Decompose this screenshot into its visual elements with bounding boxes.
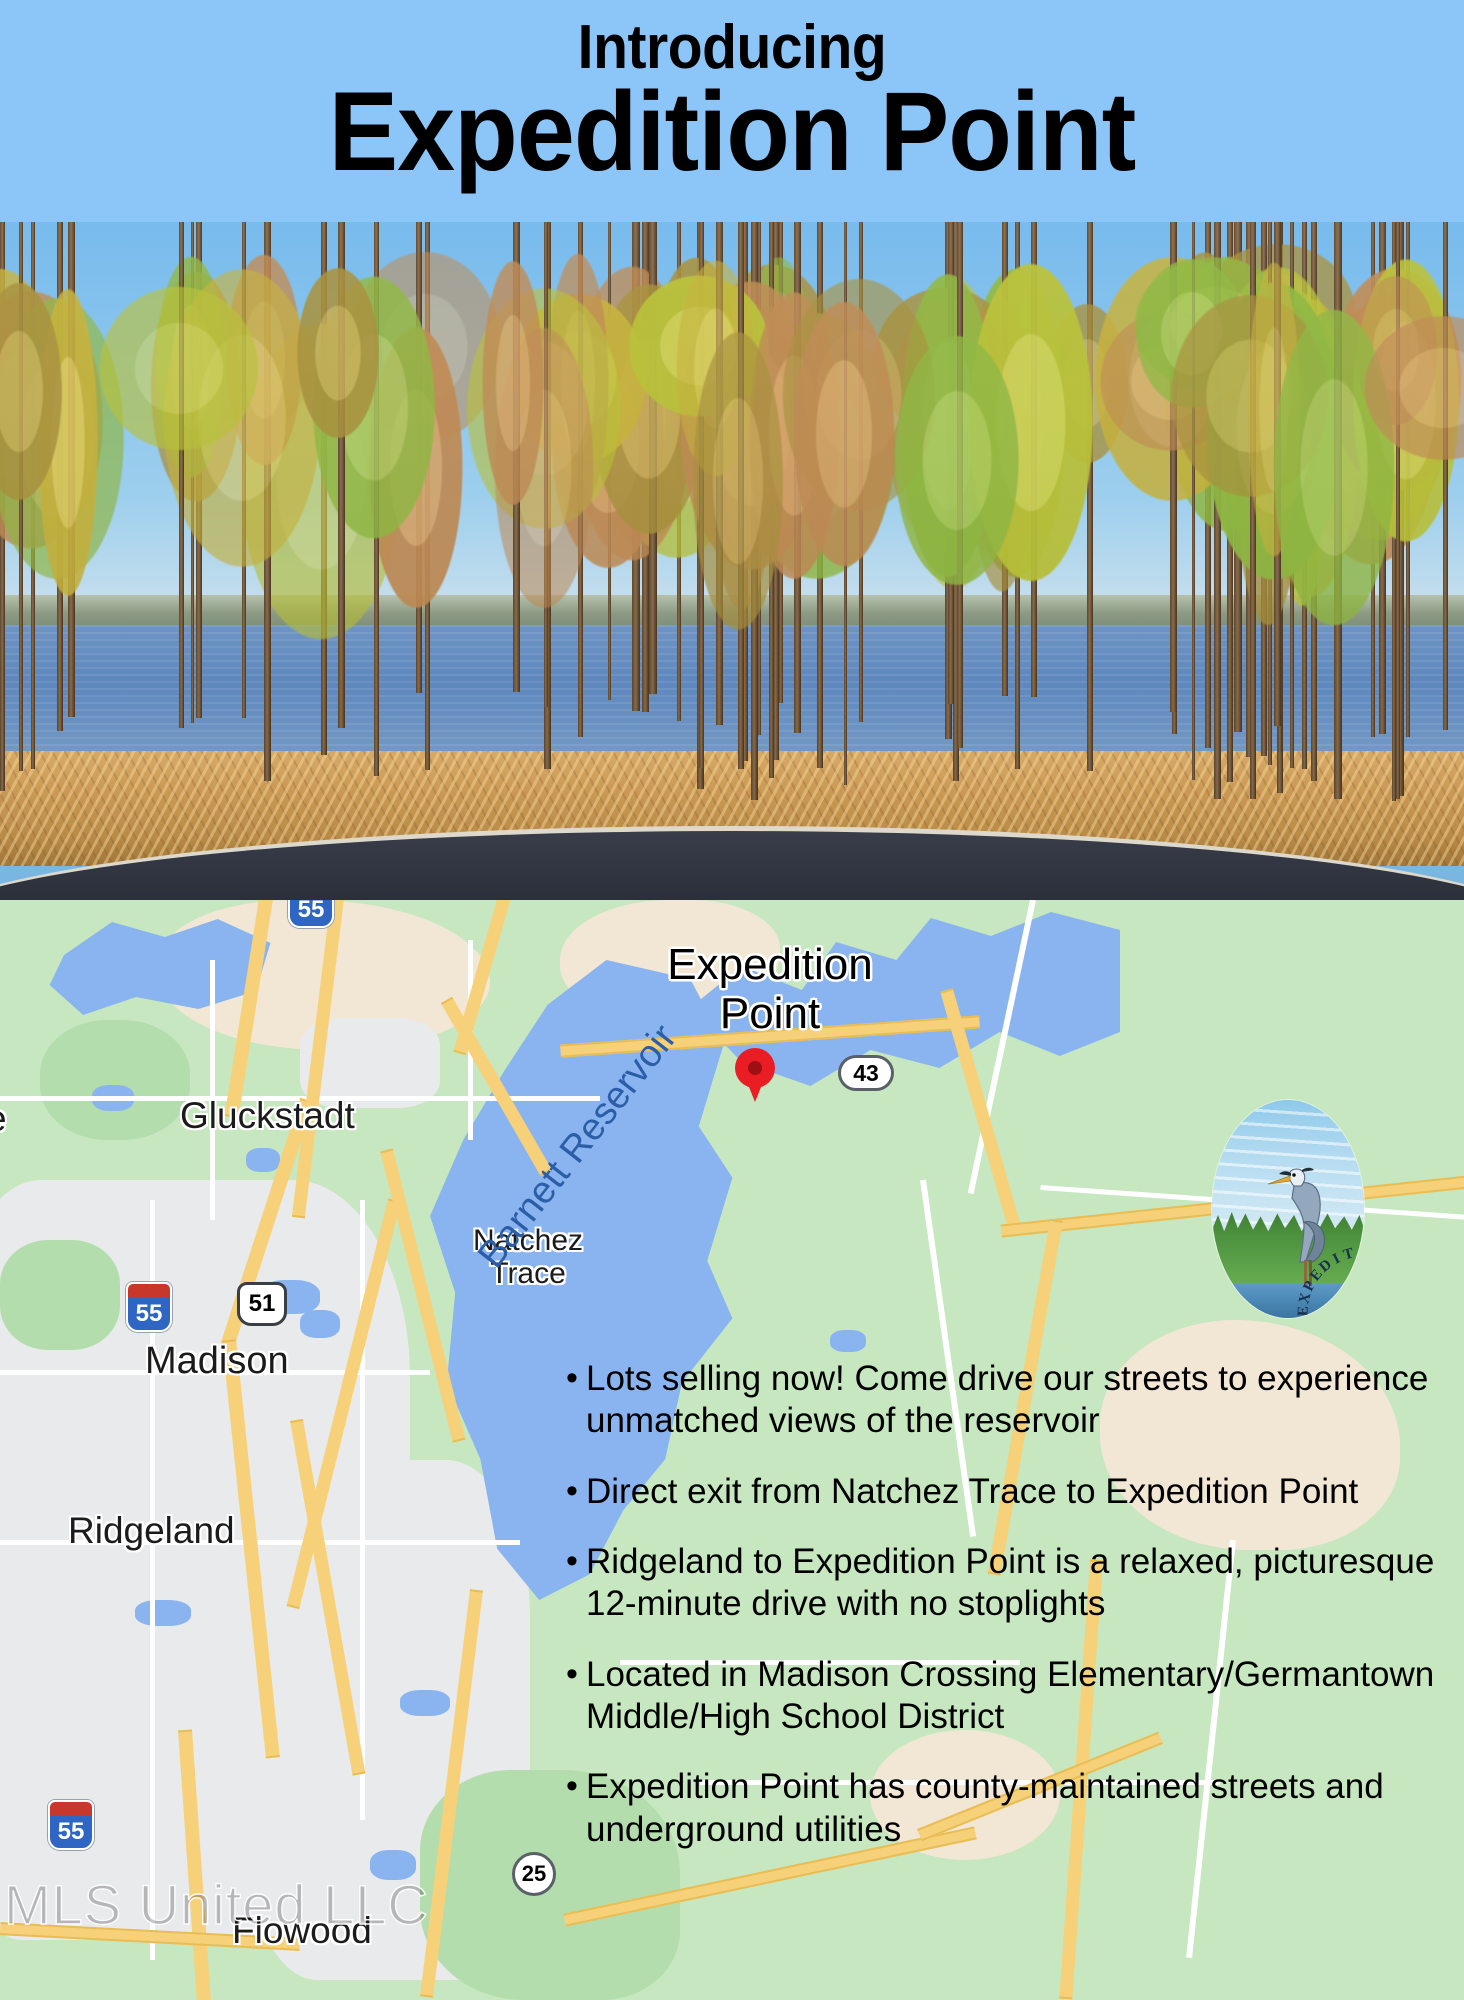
list-item: • Direct exit from Natchez Trace to Expe… (566, 1471, 1456, 1513)
bullet-text: Direct exit from Natchez Trace to Expedi… (586, 1471, 1456, 1513)
map-label-madison: Madison (145, 1340, 289, 1383)
page-title: Expedition Point (51, 72, 1413, 193)
tree-canopy (70, 256, 288, 482)
logo-arc-char: X (1296, 1291, 1315, 1306)
list-item: • Ridgeland to Expedition Point is a rel… (566, 1541, 1456, 1626)
map-minor-road (210, 960, 215, 1220)
map-pin[interactable] (735, 1048, 775, 1102)
tree-canopy (775, 252, 912, 616)
logo-arc-char: T (1342, 1245, 1356, 1264)
route-shield-25: 25 (512, 1852, 556, 1896)
tree-canopy (282, 236, 395, 470)
flyer-page: Introducing Expedition Point (0, 0, 1464, 2000)
map-label-ridgeland: Ridgeland (68, 1510, 235, 1552)
bullet-icon: • (566, 1654, 584, 1694)
map-pond (400, 1690, 450, 1716)
expedition-point-logo[interactable]: EXPEDITIONPOINT (1212, 1100, 1364, 1318)
photo-tree-trunks (0, 222, 1464, 900)
bullet-icon: • (566, 1471, 584, 1511)
route-shield-us51: 51 (237, 1282, 287, 1326)
hero-photo (0, 222, 1464, 900)
map-poi-label-expedition-point: Expedition Point (620, 940, 920, 1039)
watermark: MLS United LLC (4, 1872, 429, 1937)
logo-arc-text: EXPEDITIONPOINT (1212, 1100, 1364, 1318)
list-item: • Expedition Point has county-maintained… (566, 1766, 1456, 1851)
list-item: • Located in Madison Crossing Elementary… (566, 1654, 1456, 1739)
bullet-icon: • (566, 1358, 584, 1398)
bullet-text: Lots selling now! Come drive our streets… (586, 1358, 1456, 1443)
header-banner: Introducing Expedition Point (0, 0, 1464, 222)
bullet-text: Expedition Point has county-maintained s… (586, 1766, 1456, 1851)
map-park (40, 1020, 190, 1140)
feature-bullet-list: • Lots selling now! Come drive our stree… (566, 1358, 1456, 1879)
map-pond (830, 1330, 866, 1352)
map-pin-tail (743, 1072, 767, 1102)
list-item: • Lots selling now! Come drive our stree… (566, 1358, 1456, 1443)
map-pond (135, 1600, 191, 1626)
logo-arc-char: E (1295, 1306, 1312, 1317)
route-shield-i55-north: 55 (288, 900, 334, 928)
route-shield-i55-mid: 55 (126, 1282, 172, 1332)
map-pond (246, 1148, 280, 1172)
logo-arc-char: I (1358, 1244, 1364, 1261)
map-pond (300, 1310, 340, 1338)
map-pin-dot (748, 1061, 762, 1075)
bullet-text: Ridgeland to Expedition Point is a relax… (586, 1541, 1456, 1626)
bullet-text: Located in Madison Crossing Elementary/G… (586, 1654, 1456, 1739)
route-shield-43: 43 (838, 1055, 894, 1091)
route-shield-i55-south: 55 (48, 1800, 94, 1850)
bullet-icon: • (566, 1541, 584, 1581)
bullet-icon: • (566, 1766, 584, 1806)
map-label-gluckstadt: Gluckstadt (180, 1095, 355, 1137)
map-park (0, 1240, 120, 1350)
map-label-partial: e (0, 1098, 7, 1140)
tree-canopy (471, 222, 555, 551)
